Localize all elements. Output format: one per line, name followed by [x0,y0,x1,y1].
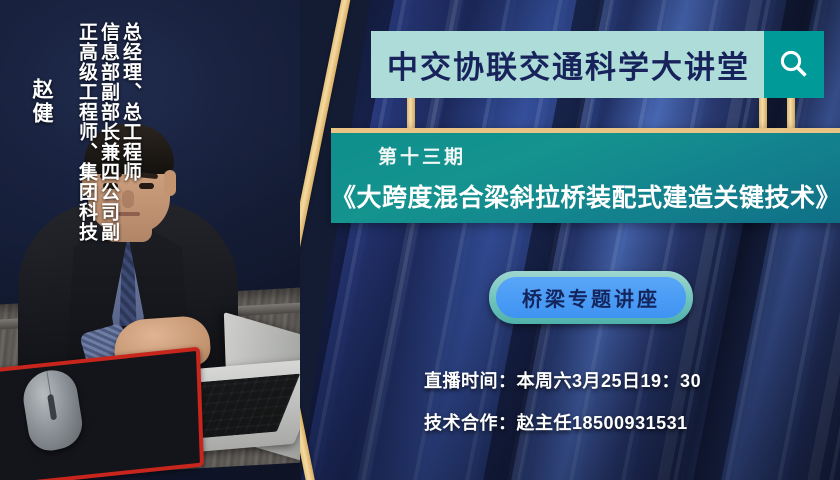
contact-text: 技术合作：赵主任18500931531 [424,409,688,435]
episode-topic: 《大跨度混合梁斜拉桥装配式建造关键技术》 [331,178,840,214]
livestream-poster: 赵健 正高级工程师、集团科技 信息部副部长兼四公司副 总经理、总工程师 中交协联… [0,0,840,480]
gold-connector-right-2 [787,96,795,132]
nose [122,190,134,208]
gold-connector-right-1 [759,96,767,132]
category-badge-label: 桥梁专题讲座 [496,277,686,318]
program-header: 中交协联交通科学大讲堂 [371,31,824,98]
computer-mouse [20,365,86,455]
program-title: 中交协联交通科学大讲堂 [371,31,764,98]
speaker-title-line-3: 总经理、总工程师 [117,22,144,182]
live-time-text: 直播时间：本周六3月25日19：30 [424,367,701,393]
category-badge[interactable]: 桥梁专题讲座 [489,271,693,324]
speaker-panel: 赵健 正高级工程师、集团科技 信息部副部长兼四公司副 总经理、总工程师 [0,0,300,480]
speaker-name: 赵健 [26,78,56,126]
search-button[interactable] [764,31,824,98]
mouse-pad [0,347,204,480]
ear-right [164,170,176,196]
search-icon [777,48,811,82]
episode-banner: 第十三期 《大跨度混合梁斜拉桥装配式建造关键技术》 [331,128,840,223]
mouse-button-divider [46,371,51,397]
eye-right [139,183,154,189]
gold-connector-left [407,96,415,132]
episode-number: 第十三期 [378,142,840,169]
